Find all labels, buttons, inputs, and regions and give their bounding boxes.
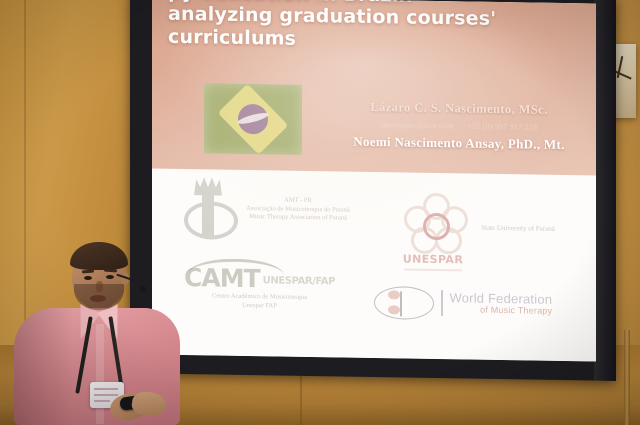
slide-title: py education in Brazil: analyzing gradua… (168, 0, 580, 54)
presenter-eye-left (84, 276, 92, 280)
wfmt-stem (400, 298, 402, 316)
unespar-flower-icon: UNESPAR (402, 192, 464, 263)
unespar-underline (404, 268, 462, 271)
presenter-shirt-placket (96, 324, 104, 424)
camt-wordmark-icon: CAMT UNESPAR/FAP (184, 267, 335, 291)
screen-frame-right-edge (594, 0, 616, 381)
badge-line (94, 388, 118, 390)
amt-pr-name-en: Music Therapy Association of Paraná (242, 213, 354, 224)
amt-pr-mark-icon (182, 175, 234, 242)
wfmt-note-icon (374, 284, 434, 321)
wfmt-ellipse (374, 286, 434, 320)
presenter-person (10, 240, 185, 425)
author-contact-line: lazaronasc@live.com +55 (0) 997 917 228 (334, 119, 584, 132)
title-word-graduation: graduation (279, 5, 399, 29)
amt-ring (184, 201, 238, 240)
wfmt-line-2: of Music Therapy (450, 305, 553, 317)
wall-trim-post (624, 330, 630, 425)
author-primary-name: Lázaro C. S. Nascimento, MSc. (334, 99, 584, 118)
logo-unespar: UNESPAR State University of Paraná (402, 192, 564, 265)
title-word-courses: courses' (406, 7, 496, 30)
presenter-mouth (90, 295, 106, 302)
amt-pr-caption: AMT - PR Associação de Musicoterapia do … (242, 196, 354, 224)
presenter-shirt-shading (14, 308, 74, 425)
wfmt-notehead (388, 305, 400, 314)
headset-mic-capsule-icon (140, 286, 146, 292)
slide-authors: Lázaro C. S. Nascimento, MSc. lazaronasc… (334, 99, 584, 153)
unespar-wordmark: UNESPAR (402, 252, 464, 266)
camt-name-pt2: Unespar FAP (212, 301, 307, 311)
presentation-slide: py education in Brazil: analyzing gradua… (152, 0, 596, 362)
projection-screen-frame: py education in Brazil: analyzing gradua… (130, 0, 616, 381)
logo-camt: CAMT UNESPAR/FAP Centro Acadêmico de Mus… (184, 267, 335, 312)
logo-wfmt: World Federation of Music Therapy (374, 284, 552, 323)
camt-wordmark: CAMT (184, 267, 260, 289)
logo-amt-pr: AMT - PR Associação de Musicoterapia do … (182, 175, 354, 244)
presenter-eye-right (106, 275, 114, 279)
brazil-flag-icon (204, 83, 302, 155)
presenter-nose (96, 281, 103, 292)
presenter-hair (70, 242, 128, 270)
wfmt-notehead (388, 290, 400, 299)
projection-screen-surface: py education in Brazil: analyzing gradua… (152, 0, 596, 362)
slide-logo-row: AMT - PR Associação de Musicoterapia do … (152, 169, 596, 362)
badge-line (94, 400, 110, 402)
unespar-caption: State University of Paraná (472, 224, 564, 235)
photograph-conference-presentation: py education in Brazil: analyzing gradua… (0, 0, 640, 425)
title-word-analyzing: analyzing (168, 3, 273, 27)
author-phone: +55 (0) 997 917 228 (468, 121, 538, 131)
unespar-petal-center (423, 213, 450, 240)
author-email: lazaronasc@live.com (381, 120, 454, 130)
camt-wordmark-sub: UNESPAR/FAP (263, 276, 335, 291)
badge-line (94, 394, 118, 396)
wfmt-wordmark: World Federation of Music Therapy (450, 291, 553, 317)
wfmt-divider (441, 290, 443, 316)
camt-caption: Centro Acadêmico de Musicoterapia Unespa… (212, 293, 307, 312)
